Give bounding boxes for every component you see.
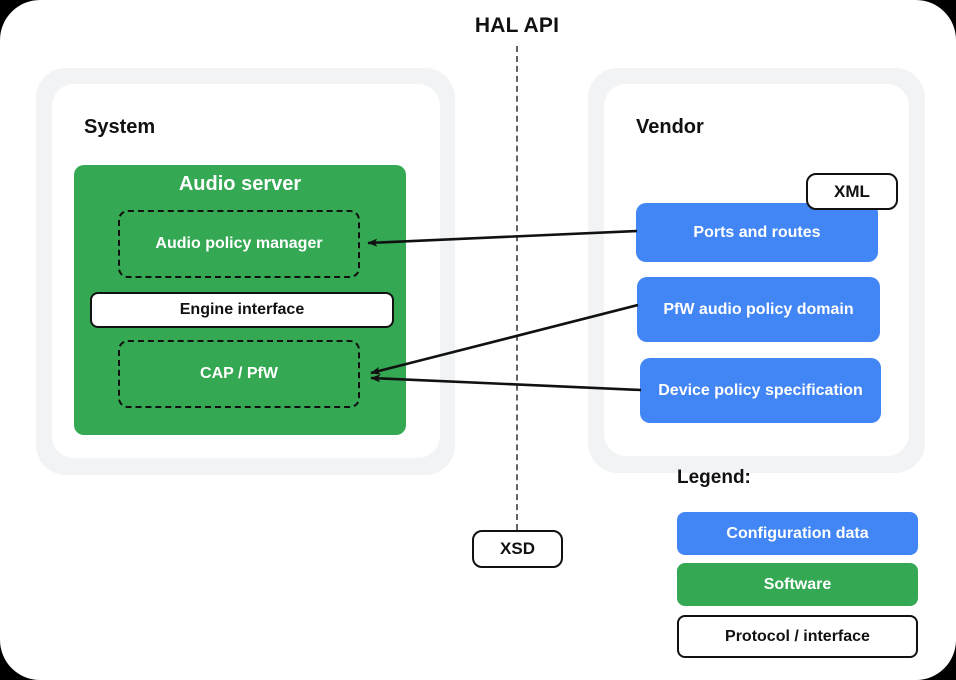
legend-item-configuration-data: Configuration data xyxy=(677,512,918,555)
legend-title: Legend: xyxy=(677,467,751,489)
vendor-panel-title: Vendor xyxy=(636,116,704,139)
xml-badge: XML xyxy=(806,173,898,210)
system-panel-title: System xyxy=(84,116,155,139)
ports-and-routes-box: Ports and routes xyxy=(636,203,878,262)
legend-item-software: Software xyxy=(677,563,918,606)
pfw-audio-policy-domain-box: PfW audio policy domain xyxy=(637,277,880,342)
hal-api-divider-line xyxy=(516,46,518,530)
audio-server-label: Audio server xyxy=(74,173,406,196)
legend-item-protocol-interface: Protocol / interface xyxy=(677,615,918,658)
hal-api-title: HAL API xyxy=(417,14,617,38)
xsd-badge: XSD xyxy=(472,530,563,568)
cap-pfw-box: CAP / PfW xyxy=(118,340,360,408)
engine-interface-box: Engine interface xyxy=(90,292,394,328)
device-policy-specification-box: Device policy specification xyxy=(640,358,881,423)
diagram-card: HAL API System Audio server Audio policy… xyxy=(0,0,956,680)
audio-policy-manager-box: Audio policy manager xyxy=(118,210,360,278)
